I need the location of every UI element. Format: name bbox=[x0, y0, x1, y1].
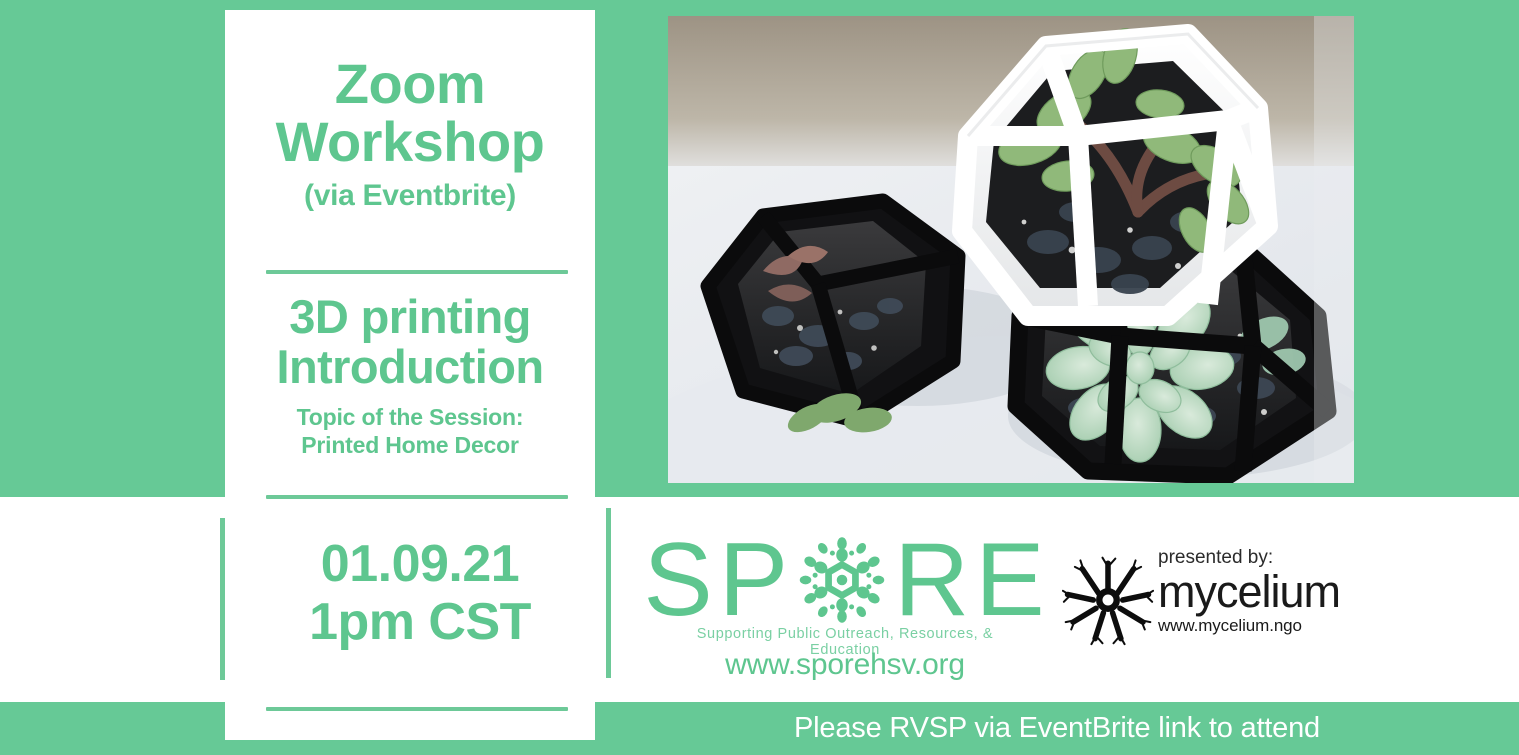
spore-letter-e: E bbox=[975, 528, 1046, 632]
topic-block: 3D printing Introduction Topic of the Se… bbox=[230, 292, 590, 459]
mycelium-wordmark: mycelium bbox=[1158, 569, 1358, 615]
topic-line-1: 3D printing bbox=[230, 292, 590, 342]
heading-line-1: Zoom bbox=[235, 55, 585, 113]
title-block: Zoom Workshop (via Eventbrite) bbox=[235, 55, 585, 213]
info-card: Zoom Workshop (via Eventbrite) 3D printi… bbox=[225, 10, 595, 740]
spore-radial-icon bbox=[794, 532, 890, 628]
spore-wordmark: S P bbox=[660, 530, 1030, 630]
divider-rule-middle bbox=[266, 495, 568, 499]
spore-website-url[interactable]: www.sporehsv.org bbox=[660, 648, 1030, 682]
heading-line-2: Workshop bbox=[235, 113, 585, 171]
topic-label: Topic of the Session: bbox=[230, 403, 590, 431]
spore-letter-p: P bbox=[719, 528, 790, 632]
workshop-photo bbox=[668, 16, 1354, 483]
divider-rule-bottom bbox=[266, 707, 568, 711]
vertical-divider-middle bbox=[606, 508, 611, 678]
flyer-canvas: Zoom Workshop (via Eventbrite) 3D printi… bbox=[0, 0, 1519, 755]
heading-subtitle: (via Eventbrite) bbox=[235, 179, 585, 213]
topic-value: Printed Home Decor bbox=[230, 431, 590, 459]
bottom-green-strip bbox=[0, 740, 1519, 755]
date-block: 01.09.21 1pm CST bbox=[255, 535, 585, 651]
divider-rule-top bbox=[266, 270, 568, 274]
vertical-divider-left bbox=[220, 518, 225, 680]
mycelium-presented-by: presented by: bbox=[1158, 548, 1358, 567]
spore-logo: S P bbox=[660, 530, 1030, 680]
spore-letter-r: R bbox=[894, 528, 971, 632]
topic-line-2: Introduction bbox=[230, 342, 590, 392]
event-time: 1pm CST bbox=[255, 593, 585, 651]
mycelium-logo: presented by: mycelium www.mycelium.ngo bbox=[1062, 548, 1307, 652]
event-date: 01.09.21 bbox=[255, 535, 585, 593]
mycelium-website-url[interactable]: www.mycelium.ngo bbox=[1158, 616, 1358, 636]
spore-letter-s: S bbox=[643, 528, 714, 632]
